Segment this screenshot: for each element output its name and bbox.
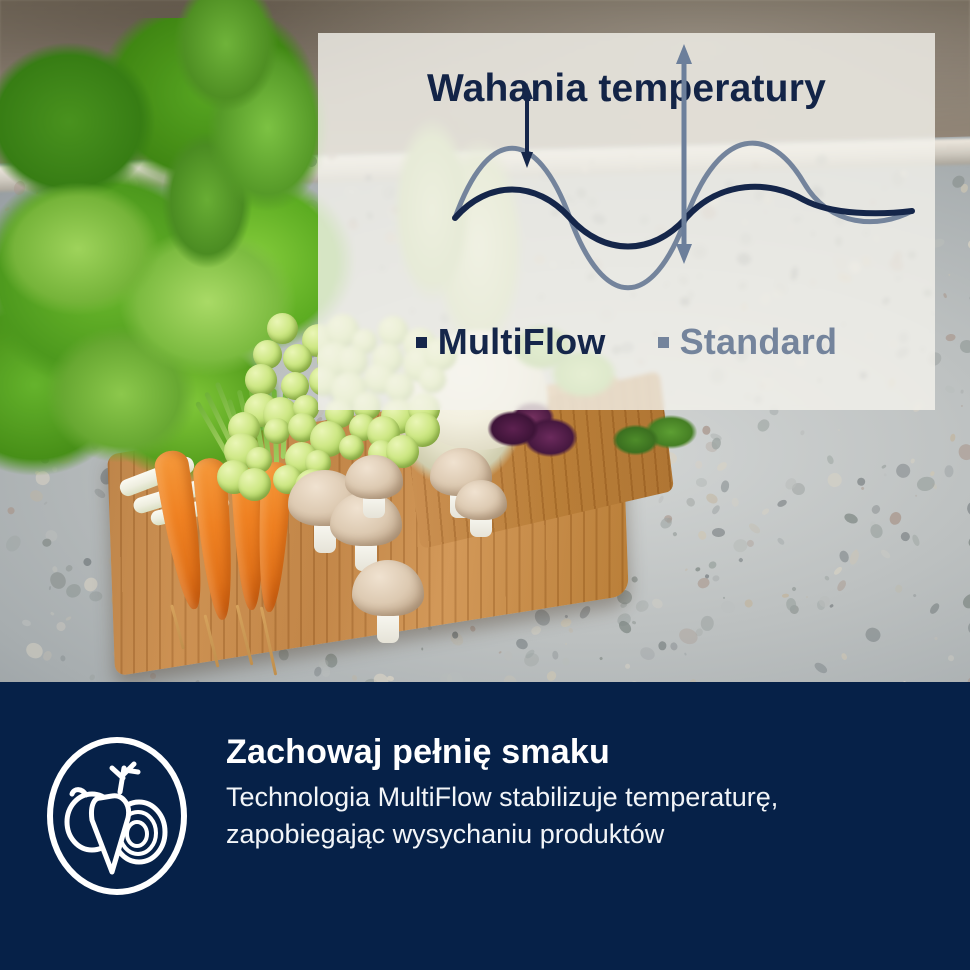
temperature-chart-panel: Wahania temperatury MultiFlow bbox=[318, 33, 935, 410]
banner-heading: Zachowaj pełnię smaku bbox=[226, 732, 886, 772]
legend-item-standard[interactable]: Standard bbox=[658, 321, 838, 363]
grape bbox=[339, 435, 364, 460]
grape bbox=[267, 313, 298, 344]
product-feature-card: Wahania temperatury MultiFlow bbox=[0, 0, 970, 970]
legend-label-standard: Standard bbox=[680, 321, 838, 363]
chart-legend: MultiFlow Standard bbox=[318, 321, 935, 363]
grape bbox=[245, 364, 277, 396]
square-marker-icon bbox=[416, 337, 427, 348]
green-herbs bbox=[596, 400, 706, 480]
multiflow-amplitude-arrow bbox=[521, 83, 533, 168]
grape bbox=[283, 344, 312, 373]
legend-item-multiflow[interactable]: MultiFlow bbox=[416, 321, 606, 363]
banner-text-block: Zachowaj pełnię smaku Technologia MultiF… bbox=[226, 718, 886, 853]
banner-content: Zachowaj pełnię smaku Technologia MultiF… bbox=[42, 718, 930, 900]
kale-leaves bbox=[150, 0, 340, 290]
purple-basil bbox=[480, 400, 590, 472]
grape bbox=[238, 468, 271, 501]
banner-body: Technologia MultiFlow stabilizuje temper… bbox=[226, 779, 886, 852]
legend-label-multiflow: MultiFlow bbox=[438, 321, 606, 363]
vegetables-circle-icon bbox=[42, 732, 192, 900]
square-marker-icon bbox=[658, 337, 669, 348]
grape bbox=[264, 418, 290, 444]
feature-banner: Zachowaj pełnię smaku Technologia MultiF… bbox=[0, 682, 970, 970]
